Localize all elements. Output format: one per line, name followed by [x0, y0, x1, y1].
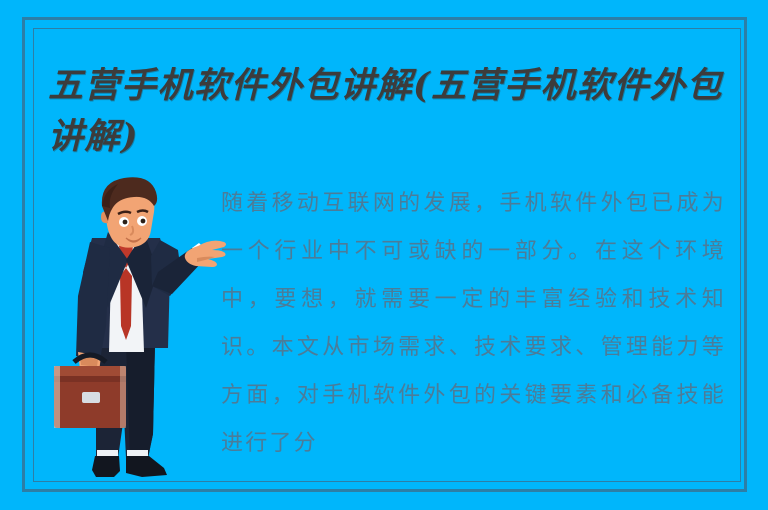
- briefcase-seam: [54, 376, 126, 382]
- page-title: 五营手机软件外包讲解(五营手机软件外包讲解): [48, 60, 738, 162]
- briefcase-edge-right: [120, 366, 126, 428]
- hand-right-open: [185, 241, 226, 267]
- pupil-left: [123, 220, 128, 225]
- briefcase-clasp: [82, 392, 100, 403]
- businessman-illustration: [52, 176, 227, 484]
- briefcase-edge-left: [54, 366, 60, 428]
- pupil-right: [141, 219, 146, 224]
- poster-canvas: 五营手机软件外包讲解(五营手机软件外包讲解) 随着移动互联网的发展，手机软件外包…: [0, 0, 768, 510]
- article-body-text: 随着移动互联网的发展，手机软件外包已成为一个行业中不可或缺的一部分。在这个环境中…: [221, 180, 726, 468]
- shoe-left: [92, 456, 120, 477]
- shoe-right: [126, 456, 167, 477]
- trousers-shadow: [126, 344, 155, 458]
